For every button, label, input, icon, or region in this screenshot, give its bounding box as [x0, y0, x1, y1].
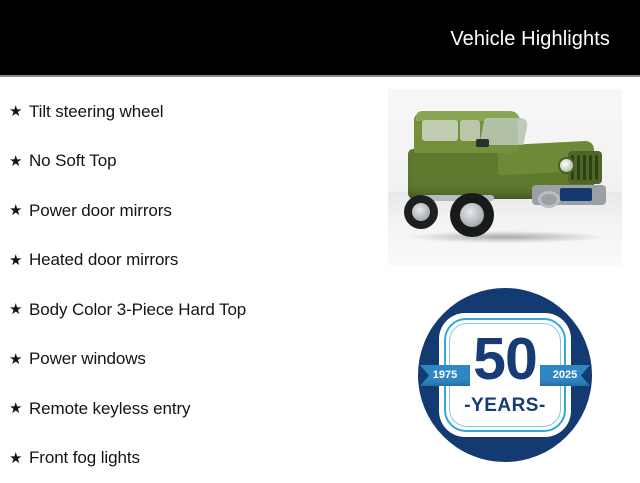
list-item: ★ Remote keyless entry [0, 384, 380, 434]
list-item-label: No Soft Top [29, 151, 116, 171]
vehicle-door-mirror [476, 139, 489, 147]
wheel-rim [460, 203, 484, 227]
list-item-label: Power door mirrors [29, 201, 172, 221]
vehicle-rear-window [422, 120, 458, 141]
vehicle-license-plate [560, 188, 592, 201]
vehicle-photo [388, 89, 622, 266]
header-divider [0, 75, 640, 77]
vehicle-headlight [558, 157, 575, 174]
star-icon: ★ [9, 401, 29, 416]
star-icon: ★ [9, 352, 29, 367]
star-icon: ★ [9, 302, 29, 317]
vehicle-shadow [408, 231, 604, 243]
star-icon: ★ [9, 203, 29, 218]
list-item: ★ Body Color 3-Piece Hard Top [0, 285, 380, 335]
star-icon: ★ [9, 451, 29, 466]
badge-years-label: -YEARS- [418, 396, 592, 416]
vehicle-door-window [460, 120, 480, 141]
wheel-rim [412, 203, 430, 221]
star-icon: ★ [9, 104, 29, 119]
jeep-wrangler-illustration [402, 103, 610, 243]
list-item: ★ Front fog lights [0, 434, 380, 483]
list-item: ★ Power windows [0, 335, 380, 385]
list-item-label: Tilt steering wheel [29, 102, 163, 122]
list-item: ★ No Soft Top [0, 137, 380, 187]
vehicle-highlights-list: ★ Tilt steering wheel ★ No Soft Top ★ Po… [0, 87, 380, 483]
list-item-label: Body Color 3-Piece Hard Top [29, 300, 246, 320]
star-icon: ★ [9, 154, 29, 169]
list-item-label: Remote keyless entry [29, 399, 190, 419]
list-item: ★ Tilt steering wheel [0, 87, 380, 137]
list-item: ★ Heated door mirrors [0, 236, 380, 286]
list-item-label: Heated door mirrors [29, 250, 178, 270]
list-item-label: Front fog lights [29, 448, 140, 468]
vehicle-front-wheel [450, 193, 494, 237]
header-bar: Vehicle Highlights [0, 0, 640, 75]
page-title: Vehicle Highlights [450, 28, 610, 50]
list-item: ★ Power door mirrors [0, 186, 380, 236]
list-item-label: Power windows [29, 349, 146, 369]
star-icon: ★ [9, 253, 29, 268]
fog-light-icon [538, 191, 560, 208]
vehicle-rear-wheel [404, 195, 438, 229]
anniversary-badge: 50 -YEARS- 1975 2025 [418, 288, 592, 462]
